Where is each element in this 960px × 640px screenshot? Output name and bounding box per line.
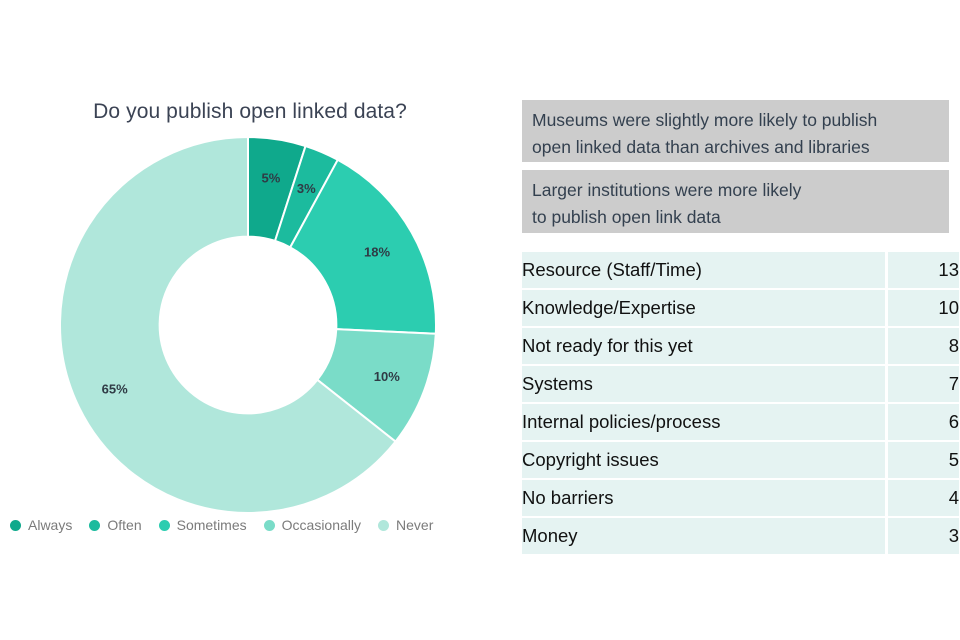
- barrier-value: 8: [887, 327, 960, 365]
- barrier-value: 3: [887, 517, 960, 556]
- legend-swatch-icon: [378, 520, 389, 531]
- barrier-label: Copyright issues: [522, 441, 887, 479]
- barrier-label: Resource (Staff/Time): [522, 252, 887, 289]
- chart-title: Do you publish open linked data?: [0, 100, 500, 124]
- legend-item-never[interactable]: Never: [378, 517, 433, 533]
- legend-label: Always: [28, 517, 72, 533]
- legend-item-often[interactable]: Often: [89, 517, 141, 533]
- legend-item-sometimes[interactable]: Sometimes: [159, 517, 247, 533]
- donut-label-never: 65%: [102, 382, 128, 397]
- barrier-value: 4: [887, 479, 960, 517]
- callout-larger-institutions: Larger institutions were more likely to …: [522, 170, 949, 233]
- barrier-value: 7: [887, 365, 960, 403]
- table-row: Knowledge/Expertise10: [522, 289, 959, 327]
- table-row: Systems7: [522, 365, 959, 403]
- legend-item-always[interactable]: Always: [10, 517, 72, 533]
- chart-legend: AlwaysOftenSometimesOccasionallyNever: [10, 517, 500, 533]
- barrier-label: Money: [522, 517, 887, 556]
- barriers-table: Resource (Staff/Time)13Knowledge/Experti…: [522, 252, 959, 557]
- donut-chart: 5%3%18%10%65%: [60, 137, 436, 513]
- callout-larger-institutions-line-2: to publish open link data: [532, 204, 949, 231]
- legend-swatch-icon: [159, 520, 170, 531]
- table-row: Money3: [522, 517, 959, 556]
- legend-label: Sometimes: [177, 517, 247, 533]
- barrier-label: No barriers: [522, 479, 887, 517]
- barrier-label: Internal policies/process: [522, 403, 887, 441]
- legend-swatch-icon: [264, 520, 275, 531]
- donut-label-sometimes: 18%: [364, 244, 390, 259]
- donut-chart-svg: 5%3%18%10%65%: [60, 137, 436, 513]
- legend-item-occasionally[interactable]: Occasionally: [264, 517, 361, 533]
- barrier-label: Knowledge/Expertise: [522, 289, 887, 327]
- legend-label: Often: [107, 517, 141, 533]
- legend-label: Never: [396, 517, 433, 533]
- barrier-value: 10: [887, 289, 960, 327]
- table-row: Internal policies/process6: [522, 403, 959, 441]
- barrier-label: Not ready for this yet: [522, 327, 887, 365]
- legend-swatch-icon: [89, 520, 100, 531]
- table-row: Copyright issues5: [522, 441, 959, 479]
- table-row: Not ready for this yet8: [522, 327, 959, 365]
- callout-museums-line-2: open linked data than archives and libra…: [532, 134, 949, 161]
- donut-slice-group: [60, 137, 436, 513]
- findings-panel: Museums were slightly more likely to pub…: [522, 0, 952, 640]
- barrier-value: 6: [887, 403, 960, 441]
- callout-museums-line-1: Museums were slightly more likely to pub…: [532, 107, 949, 134]
- donut-label-often: 3%: [297, 181, 316, 196]
- donut-label-occasionally: 10%: [374, 369, 400, 384]
- legend-swatch-icon: [10, 520, 21, 531]
- table-row: No barriers4: [522, 479, 959, 517]
- barrier-value: 13: [887, 252, 960, 289]
- callout-museums: Museums were slightly more likely to pub…: [522, 100, 949, 162]
- callout-larger-institutions-line-1: Larger institutions were more likely: [532, 177, 949, 204]
- barrier-value: 5: [887, 441, 960, 479]
- barrier-label: Systems: [522, 365, 887, 403]
- legend-label: Occasionally: [282, 517, 361, 533]
- table-row: Resource (Staff/Time)13: [522, 252, 959, 289]
- donut-label-always: 5%: [262, 171, 281, 186]
- donut-chart-panel: Do you publish open linked data? 5%3%18%…: [0, 0, 500, 560]
